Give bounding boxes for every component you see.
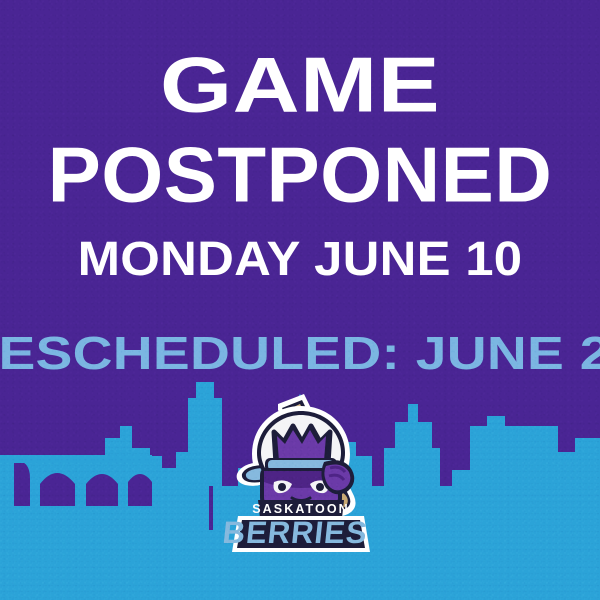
headline-line-2: POSTPONED (0, 137, 600, 215)
team-name-text: BERRIES (221, 515, 369, 550)
team-name-banner: BERRIES (221, 515, 370, 552)
headline-line-1: GAME (0, 47, 600, 125)
bridge-deck-gap (0, 455, 152, 463)
team-logo: SASKATOON BERRIES (218, 392, 384, 556)
game-postponed-poster: GAME POSTPONED MONDAY JUNE 10 RESCHEDULE… (0, 0, 600, 600)
tower-gap-notch (209, 486, 213, 530)
city-name-text: SASKATOON (252, 502, 350, 516)
original-game-date: MONDAY JUNE 10 (0, 236, 600, 284)
rescheduled-date: RESCHEDULED: JUNE 24 (0, 330, 600, 376)
